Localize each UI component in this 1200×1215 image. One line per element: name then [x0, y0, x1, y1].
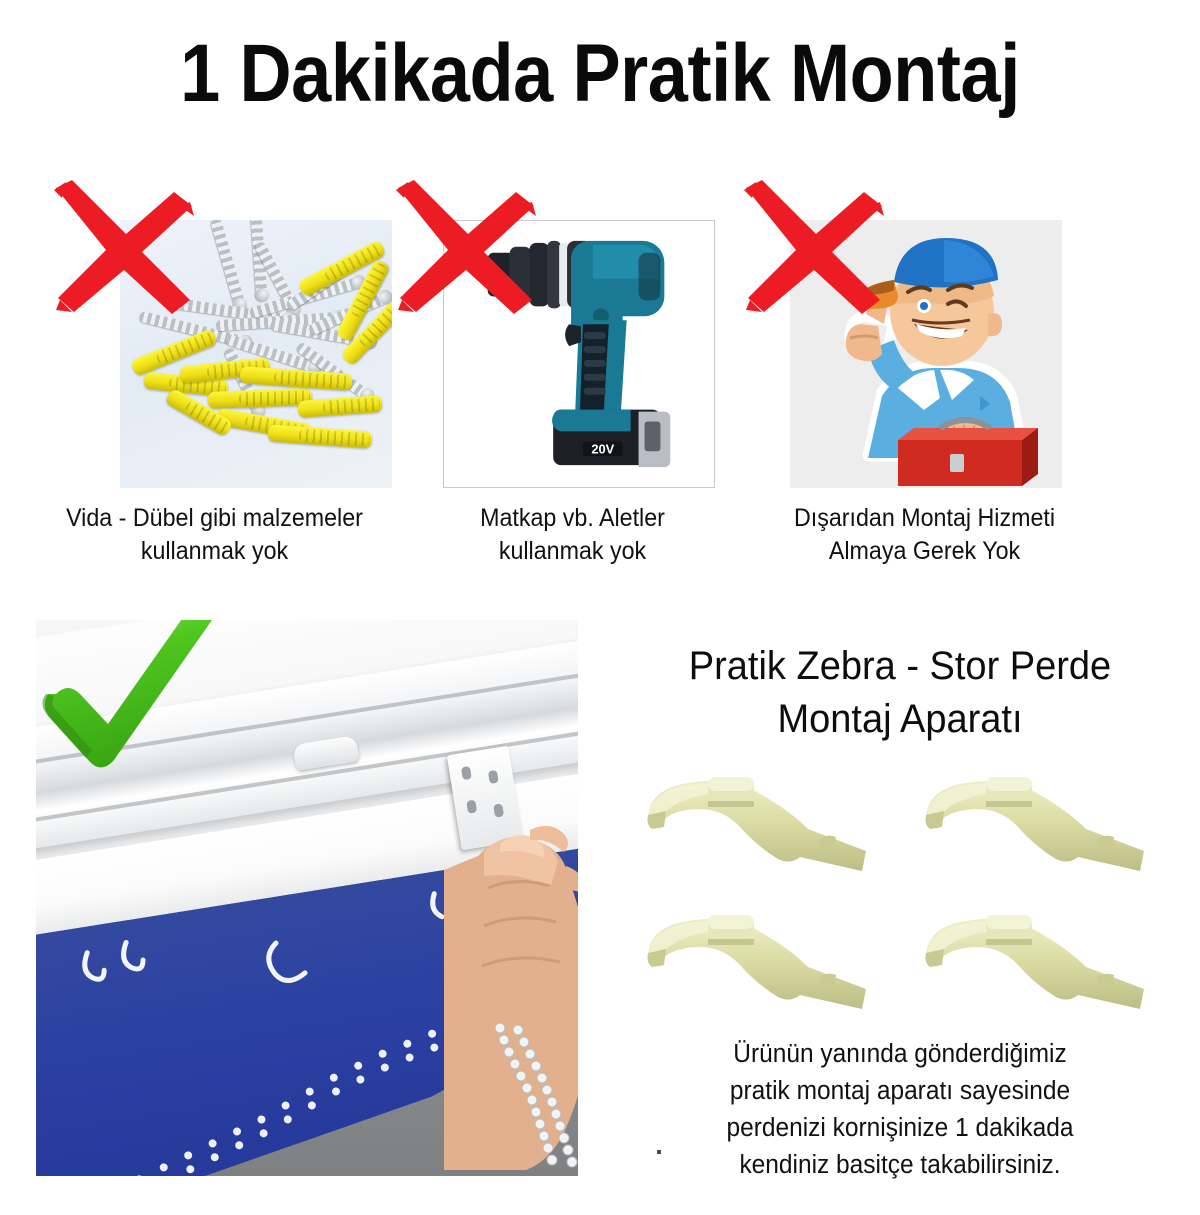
card-caption: Dışarıdan Montaj Hizmeti Almaya Gerek Yo… — [764, 502, 1085, 568]
green-check-icon — [40, 620, 220, 772]
caption-line-2: Almaya Gerek Yok — [764, 535, 1085, 568]
product-heading-line-1: Pratik Zebra - Stor Perde — [615, 640, 1185, 693]
card-caption: Vida - Dübel gibi malzemeler kullanmak y… — [54, 502, 375, 568]
card-screws-dowels: Vida - Dübel gibi malzemeler kullanmak y… — [42, 172, 387, 582]
drill-illustration: 20V — [444, 221, 714, 487]
mounting-clip — [920, 765, 1170, 875]
card-drill: 20V Matkap vb. Aletler kullanmak yok — [400, 172, 745, 582]
card-caption: Matkap vb. Aletler kullanmak yok — [412, 502, 733, 568]
negative-features-row: Vida - Dübel gibi malzemeler kullanmak y… — [0, 172, 1200, 582]
description-line-3: perdenizi kornişinize 1 dakikada — [631, 1110, 1169, 1147]
product-heading-line-2: Montaj Aparatı — [615, 693, 1185, 746]
product-description: Ürünün yanında gönderdiğimiz pratik mont… — [631, 1036, 1169, 1184]
mounting-clip-parts-photo — [620, 765, 1180, 1015]
description-line-4: kendiniz basitçe takabilirsiniz. — [631, 1147, 1169, 1184]
card-handyman: Dışarıdan Montaj Hizmeti Almaya Gerek Yo… — [752, 172, 1097, 582]
speck-artifact — [657, 1150, 661, 1154]
handyman-with-toolbox-illustration — [790, 220, 1062, 488]
description-line-1: Ürünün yanında gönderdiğimiz — [631, 1036, 1169, 1073]
product-heading: Pratik Zebra - Stor Perde Montaj Aparatı — [615, 640, 1185, 746]
caption-line-1: Dışarıdan Montaj Hizmeti — [764, 502, 1085, 535]
caption-line-1: Vida - Dübel gibi malzemeler — [54, 502, 375, 535]
caption-line-1: Matkap vb. Aletler — [412, 502, 733, 535]
handyman-figure — [790, 220, 1062, 488]
bead-chain — [488, 1020, 578, 1170]
cordless-drill-photo: 20V — [443, 220, 715, 488]
mounting-clip — [642, 903, 892, 1013]
screws-and-dowels-photo — [120, 220, 392, 488]
page-title: 1 Dakikada Pratik Montaj — [72, 28, 1128, 120]
caption-line-2: kullanmak yok — [54, 535, 375, 568]
hand-installing-bracket-on-curtain-rail-photo — [36, 620, 578, 1176]
battery-voltage-label: 20V — [591, 441, 614, 456]
caption-line-2: kullanmak yok — [412, 535, 733, 568]
description-line-2: pratik montaj aparatı sayesinde — [631, 1073, 1169, 1110]
mounting-clip — [920, 903, 1170, 1013]
mounting-clip — [642, 765, 892, 875]
